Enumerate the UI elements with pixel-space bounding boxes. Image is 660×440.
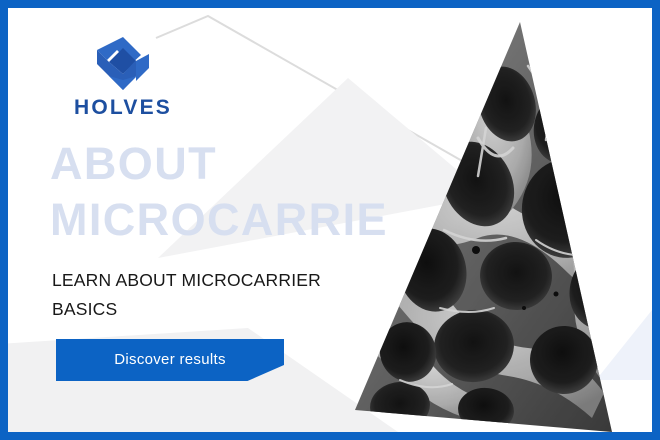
discover-results-button[interactable]: Discover results [56, 339, 284, 381]
frame-border-right [652, 0, 660, 440]
holves-diamond-h-icon [92, 36, 154, 94]
brand-wordmark: HOLVES [58, 97, 188, 118]
banner-subtitle: LEARN ABOUT MICROCARRIER BASICS [52, 266, 372, 324]
frame-border-bottom [0, 432, 660, 440]
frame-border-left [0, 0, 8, 440]
decorative-corner-chevron [582, 310, 652, 380]
banner-subtitle-line-1: LEARN ABOUT MICROCARRIER [52, 266, 372, 295]
brand-logo[interactable]: HOLVES [58, 36, 188, 118]
about-microcarrier-banner: ABOUT MICROCARRIE [0, 0, 660, 440]
banner-canvas: ABOUT MICROCARRIE [8, 8, 652, 432]
frame-border-top [0, 0, 660, 8]
banner-subtitle-line-2: BASICS [52, 295, 372, 324]
